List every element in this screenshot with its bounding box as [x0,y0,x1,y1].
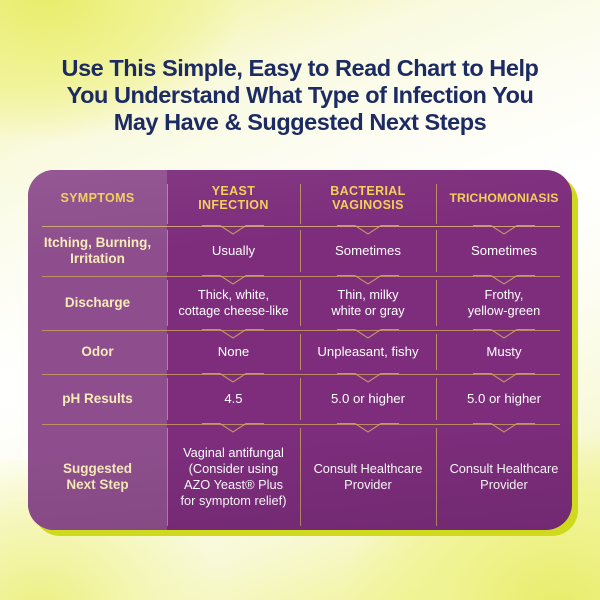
cell-text-line-2: yellow-green [468,303,541,318]
row-label-line-2: Next Step [66,477,128,492]
table-row: Discharge Thick, white, cottage cheese-l… [28,276,572,330]
cell-itching-trichomoniasis: Sometimes [436,226,572,276]
chevron-notch-icon [202,373,264,384]
cell-text: Sometimes [471,243,537,258]
table-header-row: SYMPTOMS YEAST INFECTION BACTERIAL VAGIN… [28,170,572,226]
chevron-notch-icon [202,423,264,434]
column-header-trichomoniasis: TRICHOMONIASIS [436,170,572,226]
cell-text-line-3: AZO Yeast® Plus [184,477,283,492]
chevron-notch-icon [202,225,264,236]
row-label-suggested-next-step: Suggested Next Step [28,424,167,530]
cell-ph-yeast-infection: 4.5 [167,374,300,424]
cell-text: 5.0 or higher [331,391,405,406]
page-title-line-1: Use This Simple, Easy to Read Chart to H… [0,55,600,82]
column-header-bacterial-vaginosis-line-2: VAGINOSIS [332,198,404,212]
cell-next-step-trichomoniasis: Consult Healthcare Provider [436,424,572,530]
chevron-notch-icon [337,329,399,340]
chevron-notch-icon [202,329,264,340]
row-label-line-2: Irritation [70,251,125,266]
row-label-line-1: Odor [81,344,113,359]
chevron-notch-icon [337,373,399,384]
table-row: Itching, Burning, Irritation Usually Som… [28,226,572,276]
cell-itching-yeast-infection: Usually [167,226,300,276]
page-title: Use This Simple, Easy to Read Chart to H… [0,55,600,136]
cell-text-line-1: Thin, milky [337,287,398,302]
cell-text: Musty [486,344,521,359]
cell-text: Unpleasant, fishy [317,344,418,359]
chevron-notch-icon [473,373,535,384]
cell-text-line-2: white or gray [331,303,404,318]
cell-next-step-bacterial-vaginosis: Consult Healthcare Provider [300,424,436,530]
cell-next-step-yeast-infection: Vaginal antifungal (Consider using AZO Y… [167,424,300,530]
cell-discharge-trichomoniasis: Frothy, yellow-green [436,276,572,330]
cell-text-line-2: Provider [344,477,392,492]
cell-ph-trichomoniasis: 5.0 or higher [436,374,572,424]
cell-ph-bacterial-vaginosis: 5.0 or higher [300,374,436,424]
cell-text-line-1: Frothy, [485,287,524,302]
table-row: pH Results 4.5 5.0 or higher [28,374,572,424]
column-header-symptoms-line-1: SYMPTOMS [60,191,134,205]
row-label-ph-results: pH Results [28,374,167,424]
cell-text-line-1: Consult Healthcare [314,461,423,476]
row-label-line-1: Suggested [63,461,132,476]
cell-text-line-2: (Consider using [189,461,279,476]
cell-discharge-bacterial-vaginosis: Thin, milky white or gray [300,276,436,330]
chevron-notch-icon [473,225,535,236]
row-label-itching-burning-irritation: Itching, Burning, Irritation [28,226,167,276]
chevron-notch-icon [473,423,535,434]
cell-text-line-1: Thick, white, [198,287,269,302]
cell-odor-trichomoniasis: Musty [436,330,572,374]
comparison-chart: SYMPTOMS YEAST INFECTION BACTERIAL VAGIN… [28,170,572,530]
cell-discharge-yeast-infection: Thick, white, cottage cheese-like [167,276,300,330]
cell-text-line-2: cottage cheese-like [178,303,288,318]
cell-text: Sometimes [335,243,401,258]
row-label-line-1: Itching, Burning, [44,235,151,250]
page-title-line-3: May Have & Suggested Next Steps [0,109,600,136]
page-title-line-2: You Understand What Type of Infection Yo… [0,82,600,109]
cell-text-line-2: Provider [480,477,528,492]
column-header-bacterial-vaginosis-line-1: BACTERIAL [330,184,405,198]
cell-text-line-4: for symptom relief) [181,493,287,508]
table-row: Odor None Unpleasant, fishy [28,330,572,374]
chevron-notch-icon [337,423,399,434]
chevron-notch-icon [473,275,535,286]
table-row: Suggested Next Step Vaginal antifungal (… [28,424,572,530]
row-label-discharge: Discharge [28,276,167,330]
cell-text: 4.5 [224,391,242,406]
column-header-trichomoniasis-line-1: TRICHOMONIASIS [449,191,558,205]
column-header-yeast-infection-line-1: YEAST [212,184,255,198]
cell-text: 5.0 or higher [467,391,541,406]
row-label-odor: Odor [28,330,167,374]
cell-itching-bacterial-vaginosis: Sometimes [300,226,436,276]
chevron-notch-icon [337,225,399,236]
cell-text-line-1: Consult Healthcare [450,461,559,476]
cell-text: Usually [212,243,255,258]
column-header-yeast-infection-line-2: INFECTION [198,198,269,212]
chevron-notch-icon [473,329,535,340]
chevron-notch-icon [202,275,264,286]
row-label-line-1: pH Results [62,391,133,406]
cell-text-line-1: Vaginal antifungal [183,445,284,460]
row-label-line-1: Discharge [65,295,130,310]
cell-odor-bacterial-vaginosis: Unpleasant, fishy [300,330,436,374]
chart-panel: SYMPTOMS YEAST INFECTION BACTERIAL VAGIN… [28,170,572,530]
comparison-table: SYMPTOMS YEAST INFECTION BACTERIAL VAGIN… [28,170,572,530]
cell-text: None [218,344,250,359]
cell-odor-yeast-infection: None [167,330,300,374]
column-header-symptoms: SYMPTOMS [28,170,167,226]
column-header-yeast-infection: YEAST INFECTION [167,170,300,226]
chevron-notch-icon [337,275,399,286]
column-header-bacterial-vaginosis: BACTERIAL VAGINOSIS [300,170,436,226]
